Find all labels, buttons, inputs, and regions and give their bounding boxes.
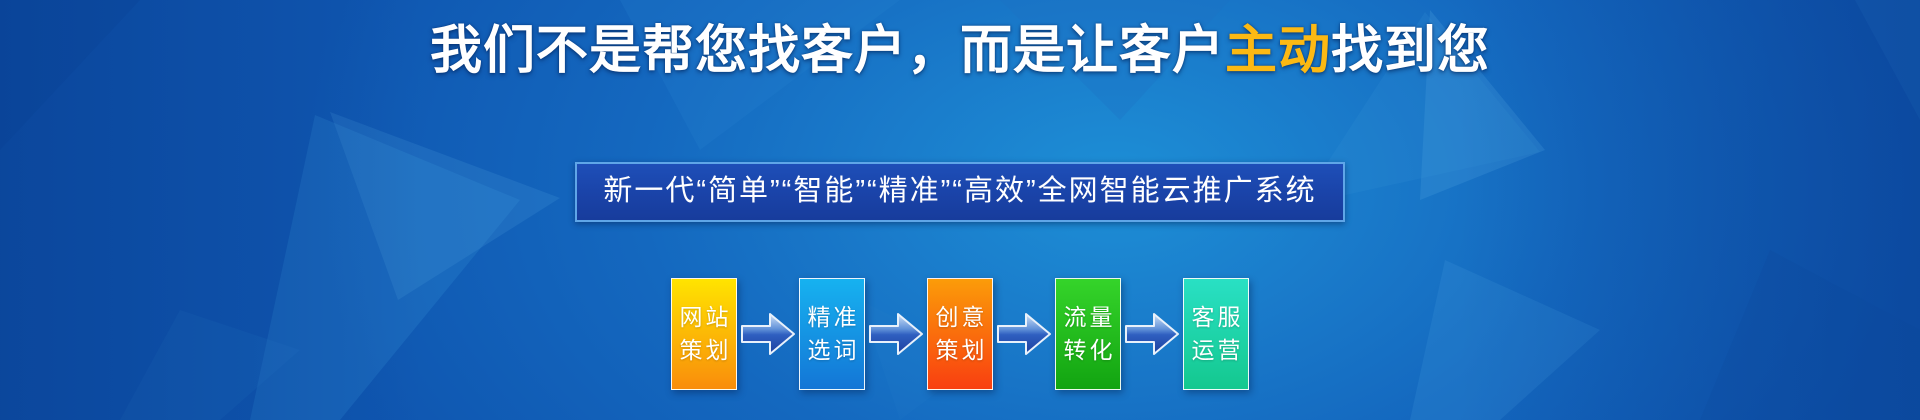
flow-step-1-line2: 策划 xyxy=(677,334,732,367)
flow-step-5-line1: 客服 xyxy=(1189,301,1244,334)
arrow-right-icon xyxy=(996,311,1052,357)
flow-arrow-1 xyxy=(737,278,799,390)
flow-arrow-3 xyxy=(993,278,1055,390)
flow-step-4[interactable]: 流量转化 xyxy=(1055,278,1121,390)
flow-step-5-line2: 运营 xyxy=(1189,334,1244,367)
banner-headline: 我们不是帮您找客户，而是让客户主动找到您 xyxy=(0,20,1920,82)
flow-arrow-4 xyxy=(1121,278,1183,390)
headline-text-after: 找到您 xyxy=(1331,22,1490,80)
subtitle-bar: 新一代“简单”“智能”“精准”“高效”全网智能云推广系统 xyxy=(575,162,1344,222)
headline-text-before: 我们不是帮您找客户，而是让客户 xyxy=(430,22,1225,80)
headline-accent: 主动 xyxy=(1225,22,1331,80)
arrow-right-icon xyxy=(740,311,796,357)
subtitle-bar-wrapper: 新一代“简单”“智能”“精准”“高效”全网智能云推广系统 xyxy=(0,162,1920,222)
arrow-right-icon xyxy=(868,311,924,357)
flow-step-2[interactable]: 精准选词 xyxy=(799,278,865,390)
flow-step-1[interactable]: 网站策划 xyxy=(671,278,737,390)
flow-step-3-line1: 创意 xyxy=(933,301,988,334)
flow-step-4-line1: 流量 xyxy=(1061,301,1116,334)
flow-step-4-line2: 转化 xyxy=(1061,334,1116,367)
flow-arrow-2 xyxy=(865,278,927,390)
flow-step-3-line2: 策划 xyxy=(933,334,988,367)
flow-step-3[interactable]: 创意策划 xyxy=(927,278,993,390)
process-flow: 网站策划精准选词创意策划流量转化客服运营 xyxy=(0,278,1920,390)
flow-step-5[interactable]: 客服运营 xyxy=(1183,278,1249,390)
flow-step-2-line1: 精准 xyxy=(805,301,860,334)
flow-step-2-line2: 选词 xyxy=(805,334,860,367)
flow-step-1-line1: 网站 xyxy=(677,301,732,334)
arrow-right-icon xyxy=(1124,311,1180,357)
banner-canvas: 我们不是帮您找客户，而是让客户主动找到您 新一代“简单”“智能”“精准”“高效”… xyxy=(0,0,1920,420)
